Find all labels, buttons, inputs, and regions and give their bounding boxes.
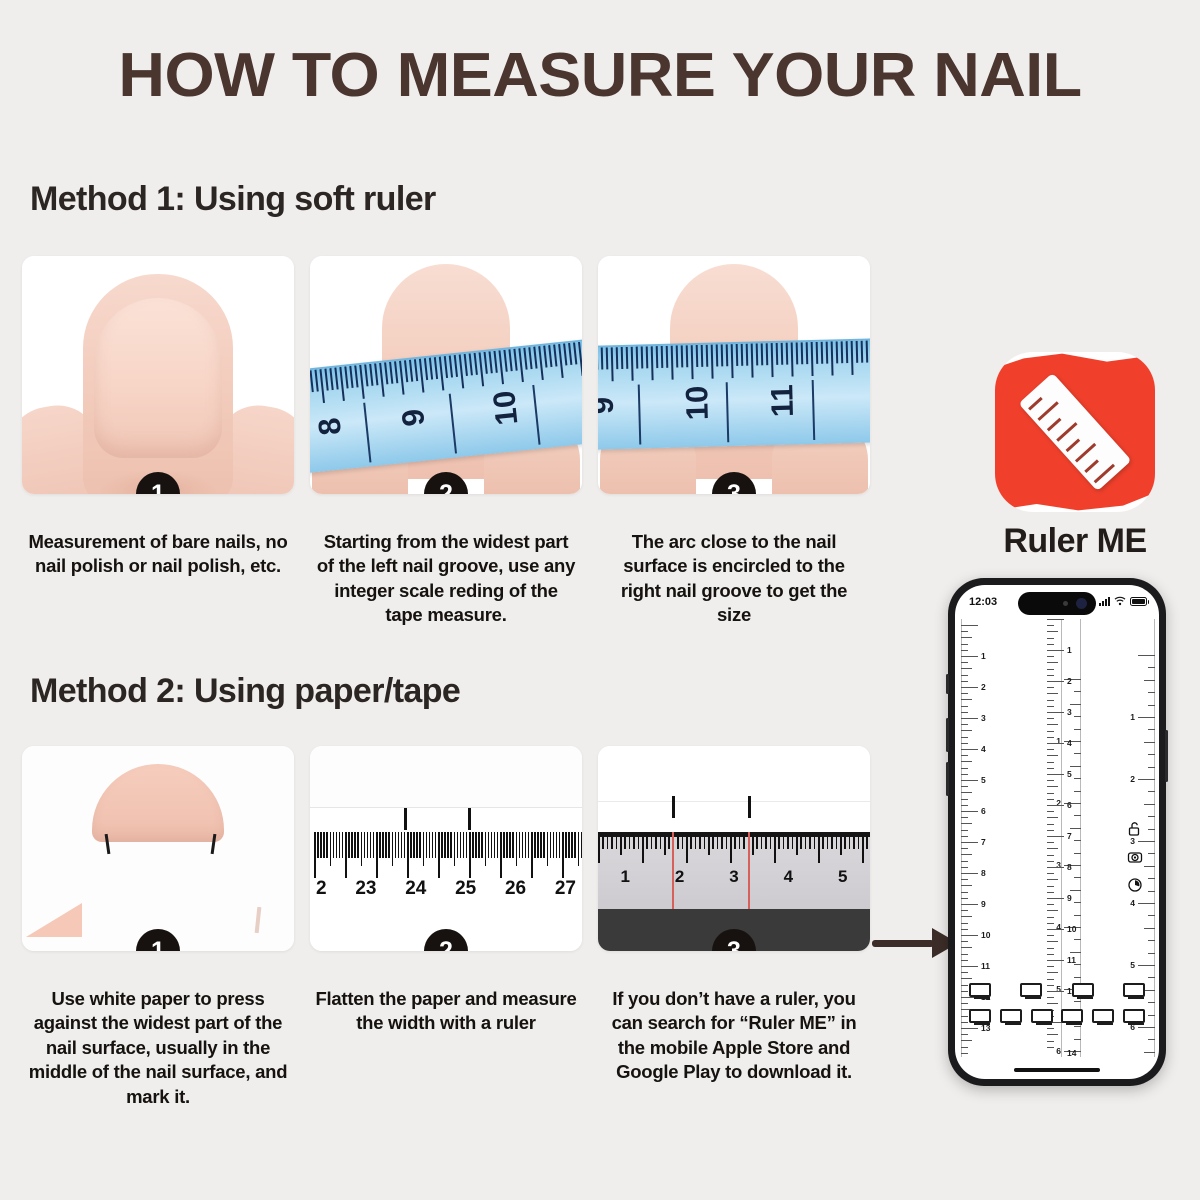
ruler-number: 5 — [838, 867, 847, 887]
ruler-tool-button[interactable] — [1000, 1009, 1022, 1023]
paper-pressed-on-nail-photo — [22, 746, 294, 951]
paper-strip — [598, 746, 870, 802]
bare-nail-card: 1 — [22, 256, 294, 494]
page-title: HOW TO MEASURE YOUR NAIL — [0, 40, 1200, 111]
ruler-number: 24 — [405, 878, 426, 900]
step-caption: Flatten the paper and measure the width … — [310, 987, 582, 1036]
tape-measure-card-2: 9 10 11 3 — [598, 256, 870, 494]
method-1-step-1: 1 Measurement of bare nails, no nail pol… — [22, 256, 294, 628]
step-caption: Starting from the widest part of the lef… — [310, 530, 582, 628]
ruler-number: 26 — [505, 878, 526, 900]
ruler-tool-button[interactable] — [1123, 983, 1145, 997]
ruler-number: 2 — [675, 867, 684, 887]
tape-number: 10 — [486, 389, 525, 427]
ruler-number: 2 — [316, 878, 327, 900]
dynamic-island — [1018, 592, 1096, 615]
phone-mockup: 12:03 12345678910111213 123456 123456789… — [948, 578, 1166, 1086]
paper-ruler-photo: 22324252627 — [310, 746, 582, 951]
ruler-me-app-icon[interactable] — [995, 352, 1155, 512]
ruler-number: 3 — [729, 867, 738, 887]
paper-on-nail-card: 1 — [22, 746, 294, 951]
step-caption: Use white paper to press against the wid… — [22, 987, 294, 1109]
infographic-page: HOW TO MEASURE YOUR NAIL Method 1: Using… — [0, 0, 1200, 1200]
ruler-number: 1 — [620, 867, 629, 887]
timer-icon[interactable] — [1127, 877, 1143, 893]
method-2-step-1: 1 Use white paper to press against the w… — [22, 746, 294, 1109]
nail-under-paper — [92, 764, 224, 842]
ruler-tool-button[interactable] — [1123, 1009, 1145, 1023]
method-1-steps: 1 Measurement of bare nails, no nail pol… — [22, 256, 870, 628]
volume-up-button[interactable] — [946, 718, 949, 752]
power-button[interactable] — [1165, 730, 1168, 782]
ruler-tool-button[interactable] — [1072, 983, 1094, 997]
tape-number: 11 — [764, 384, 801, 418]
ruler-tool-button[interactable] — [1061, 1009, 1083, 1023]
paper-corner — [26, 903, 82, 937]
paper-ruler-card: 22324252627 2 — [310, 746, 582, 951]
phone-screen-ruler-photo: 12345 — [598, 746, 870, 951]
ruler-toolbar-row-2[interactable] — [969, 1009, 1145, 1023]
pen-mark-right — [748, 796, 751, 818]
ruler-number: 27 — [555, 878, 576, 900]
method-2-steps: 1 Use white paper to press against the w… — [22, 746, 870, 1109]
method-1-heading: Method 1: Using soft ruler — [30, 180, 436, 219]
ruler-tool-button[interactable] — [1020, 983, 1042, 997]
ruler-tool-button[interactable] — [969, 1009, 991, 1023]
ruler-tool-button[interactable] — [1031, 1009, 1053, 1023]
right-arrow-icon — [872, 928, 958, 958]
wifi-icon — [1114, 596, 1126, 606]
tape-tick-marks — [598, 340, 870, 388]
step-caption: If you don’t have a ruler, you can searc… — [598, 987, 870, 1085]
method-1-step-2: 8 9 10 2 Starting from the widest part o… — [310, 256, 582, 628]
finger-shape — [83, 274, 233, 494]
phone-ruler-scale: 12345 — [598, 832, 870, 910]
home-indicator[interactable] — [1014, 1068, 1100, 1072]
ruler-toolbar-row-1[interactable] — [969, 983, 1145, 997]
paper-strip — [310, 746, 582, 808]
mute-switch[interactable] — [946, 674, 949, 694]
bare-nail-photo — [22, 256, 294, 494]
ruler-number-labels: 22324252627 — [310, 878, 582, 900]
method-2-step-3: 12345 3 If you don’t have a ruler, you c… — [598, 746, 870, 1109]
camera-icon[interactable] — [1127, 849, 1143, 865]
paper-edge — [255, 907, 262, 933]
ruler-tick-marks — [314, 832, 578, 878]
finger-encircled-with-blue-tape-measure-photo: 9 10 11 — [598, 256, 870, 494]
ruler-number: 23 — [355, 878, 376, 900]
pen-mark-left — [672, 796, 675, 818]
tape-number: 10 — [679, 385, 716, 420]
battery-icon — [1130, 597, 1147, 606]
tape-number: 9 — [395, 407, 433, 428]
step-caption: The arc close to the nail surface is enc… — [598, 530, 870, 628]
ruler-app-tools — [1127, 821, 1143, 893]
nail-plate — [94, 298, 222, 458]
ruler-tick-marks — [598, 837, 870, 863]
step-caption: Measurement of bare nails, no nail polis… — [22, 530, 294, 579]
unlock-icon[interactable] — [1127, 821, 1143, 837]
status-bar-time: 12:03 — [969, 596, 997, 608]
status-bar-indicators — [1099, 596, 1147, 606]
sensor-dot-icon — [1063, 601, 1068, 606]
pen-mark-left — [404, 808, 407, 830]
tape-measure-card-1: 8 9 10 2 — [310, 256, 582, 494]
ruler-number: 25 — [455, 878, 476, 900]
ruler-number: 4 — [784, 867, 793, 887]
method-2-step-2: 22324252627 2 Flatten the paper and meas… — [310, 746, 582, 1109]
method-2-heading: Method 2: Using paper/tape — [30, 672, 460, 711]
volume-down-button[interactable] — [946, 762, 949, 796]
cellular-signal-icon — [1099, 597, 1110, 606]
phone-ruler-card: 12345 3 — [598, 746, 870, 951]
tape-number: 9 — [598, 396, 621, 414]
app-name-label: Ruler ME — [940, 522, 1200, 561]
ruler-tool-button[interactable] — [1092, 1009, 1114, 1023]
ruler-number-labels: 12345 — [598, 867, 870, 887]
front-camera-icon — [1076, 598, 1087, 609]
pen-mark-right — [468, 808, 471, 830]
finger-with-blue-tape-measure-photo: 8 9 10 — [310, 256, 582, 494]
blue-tape-measure: 9 10 11 — [598, 338, 870, 450]
phone-screen: 12:03 12345678910111213 123456 123456789… — [955, 585, 1159, 1079]
tape-number: 8 — [311, 416, 349, 437]
method-1-step-3: 9 10 11 3 The arc close to the nail surf… — [598, 256, 870, 628]
ruler-tool-button[interactable] — [969, 983, 991, 997]
